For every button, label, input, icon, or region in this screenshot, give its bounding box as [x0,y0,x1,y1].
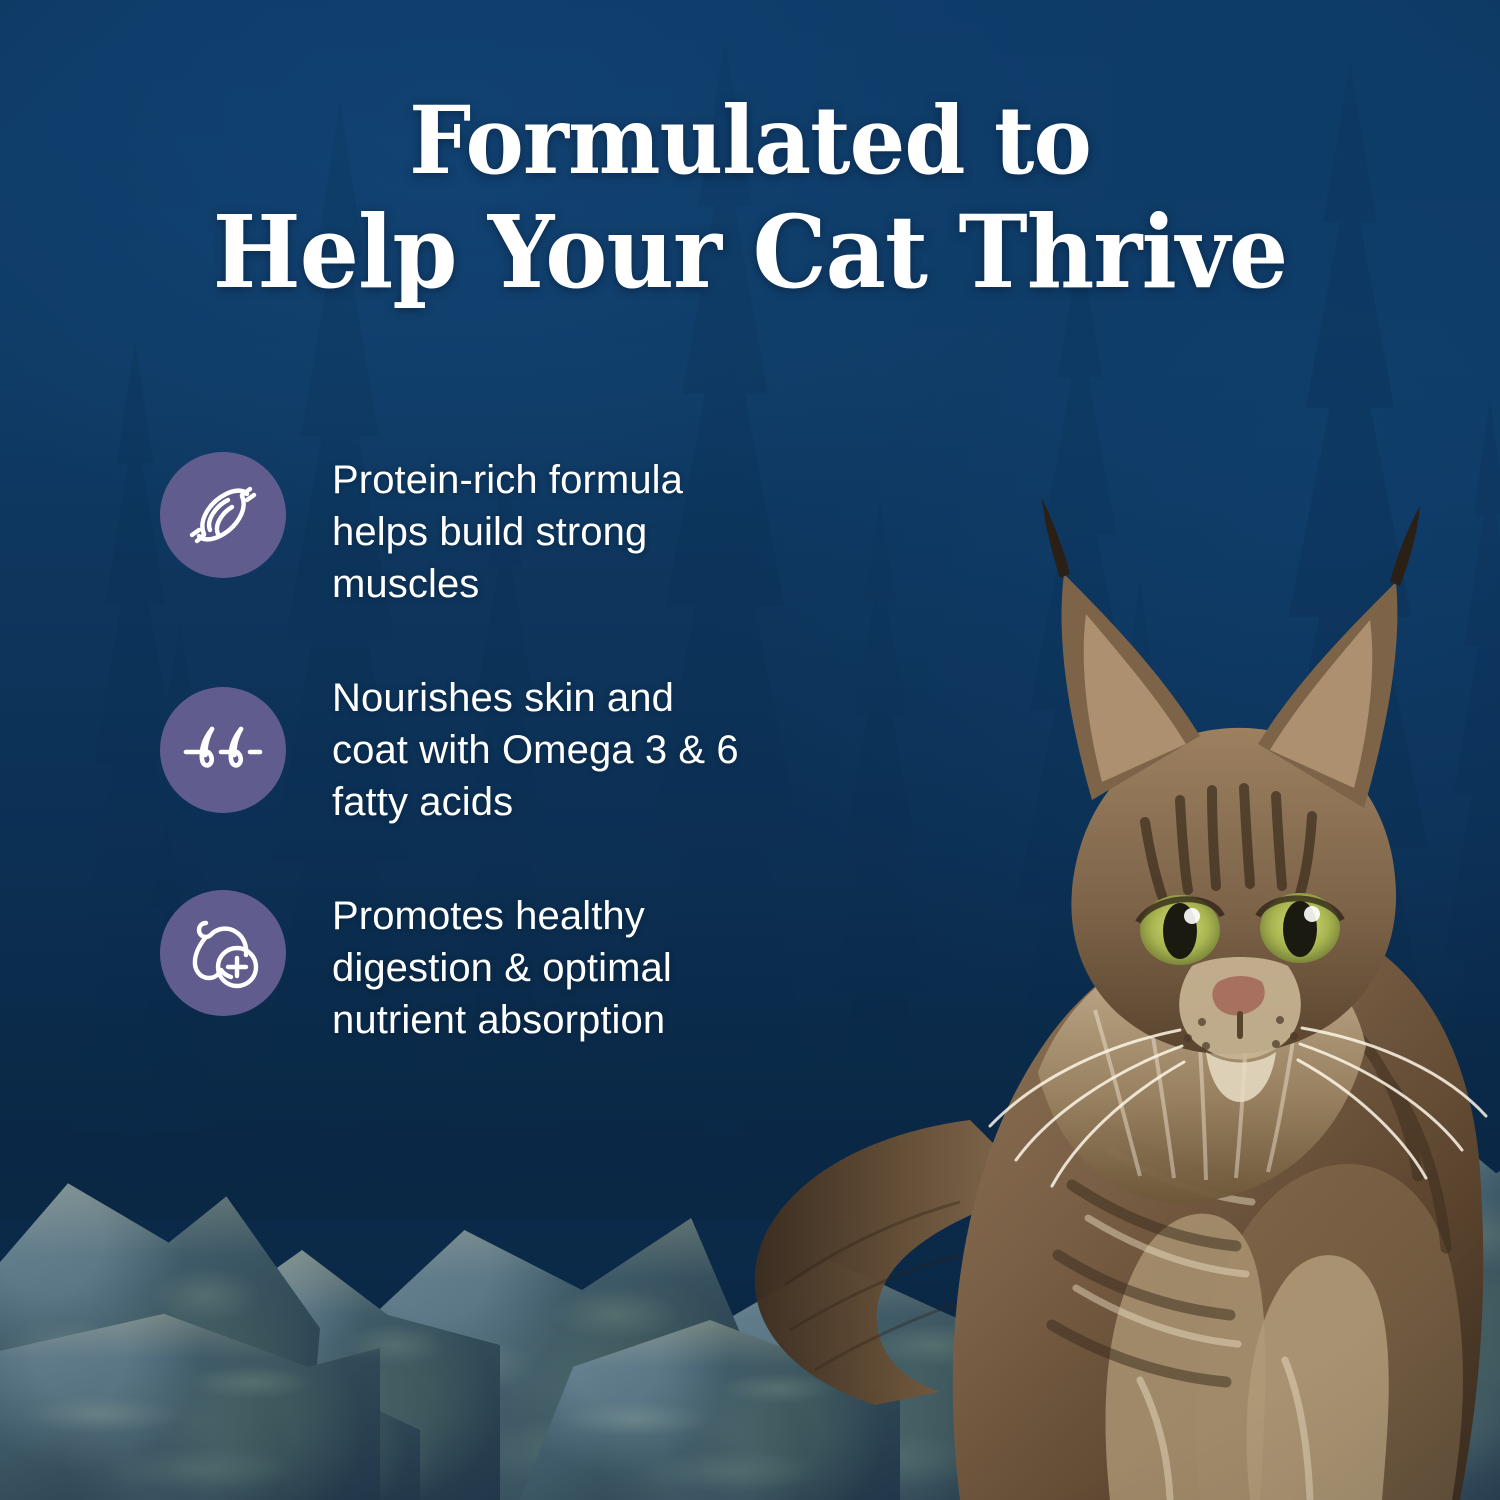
benefit-icon-badge [160,452,286,578]
headline-line-1: Formulated to [409,86,1091,196]
benefit-item-protein: Protein-rich formula helps build strong … [160,452,780,610]
benefit-list: Protein-rich formula helps build strong … [160,452,780,1046]
benefit-text: Nourishes skin and coat with Omega 3 & 6… [332,672,752,828]
stomach-plus-icon [183,915,263,991]
benefit-text: Protein-rich formula helps build strong … [332,452,752,610]
benefit-text: Promotes healthy digestion & optimal nut… [332,890,752,1046]
headline-line-2: Help Your Cat Thrive [53,195,1448,309]
page-title: Formulated to Help Your Cat Thrive [53,88,1448,309]
promo-graphic: Formulated to Help Your Cat Thrive [0,0,1500,1500]
benefit-item-digestion: Promotes healthy digestion & optimal nut… [160,890,780,1046]
benefit-icon-badge [160,890,286,1016]
benefit-item-skin-coat: Nourishes skin and coat with Omega 3 & 6… [160,672,780,828]
muscle-fiber-icon [184,476,262,554]
hair-follicle-icon [182,719,264,781]
benefit-icon-badge [160,687,286,813]
